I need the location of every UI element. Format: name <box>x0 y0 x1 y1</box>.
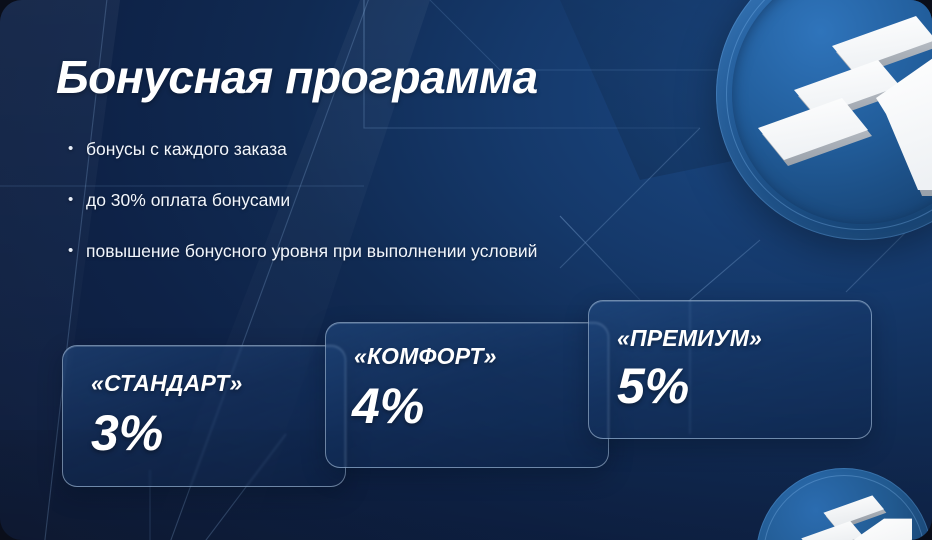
feature-list: • бонусы с каждого заказа • до 30% оплат… <box>68 138 768 290</box>
page-title: Бонусная программа <box>56 50 538 104</box>
tier-value: 3% <box>91 404 163 462</box>
tier-name: «ПРЕМИУМ» <box>617 325 762 352</box>
list-item: • до 30% оплата бонусами <box>68 189 768 212</box>
tier-card-standard: «СТАНДАРТ» 3% <box>62 345 346 487</box>
bullet-dot-icon: • <box>68 192 86 207</box>
list-item-label: до 30% оплата бонусами <box>86 189 290 212</box>
tier-name: «КОМФОРТ» <box>354 343 497 370</box>
company-logo-icon <box>778 486 912 540</box>
bullet-dot-icon: • <box>68 243 86 258</box>
tier-value: 4% <box>352 377 424 435</box>
company-logo-icon <box>754 0 932 200</box>
list-item-label: повышение бонусного уровня при выполнени… <box>86 240 537 263</box>
tier-card-premium: «ПРЕМИУМ» 5% <box>588 300 872 439</box>
bullet-dot-icon: • <box>68 141 86 156</box>
tier-card-comfort: «КОМФОРТ» 4% <box>325 322 609 468</box>
list-item: • бонусы с каждого заказа <box>68 138 768 161</box>
tier-name: «СТАНДАРТ» <box>91 370 242 397</box>
list-item-label: бонусы с каждого заказа <box>86 138 287 161</box>
tier-value: 5% <box>617 357 689 415</box>
list-item: • повышение бонусного уровня при выполне… <box>68 240 768 263</box>
bonus-program-banner: Бонусная программа • бонусы с каждого за… <box>0 0 932 540</box>
